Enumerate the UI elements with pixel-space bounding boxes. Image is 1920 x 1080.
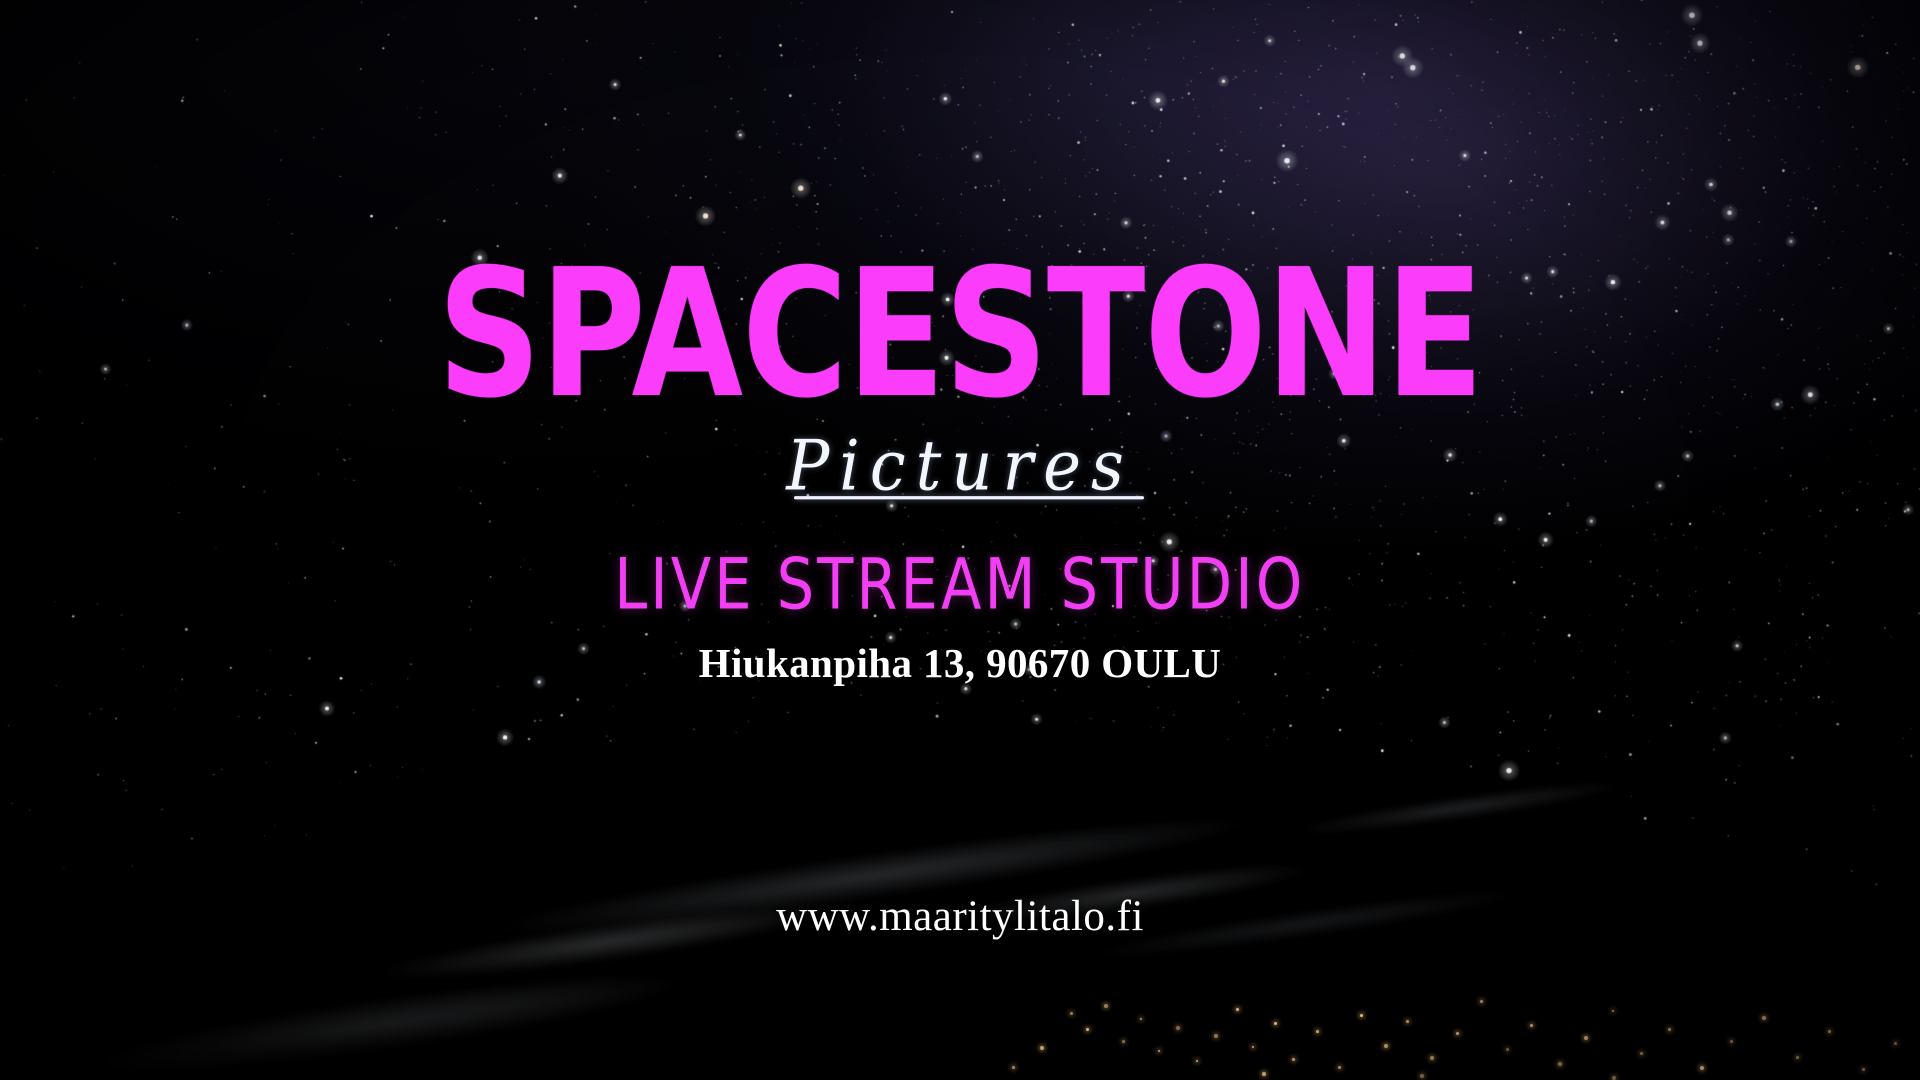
- address-line: Hiukanpiha 13, 90670 OULU: [699, 643, 1222, 684]
- title-content: SPACESTONE Pictures LIVE STREAM STUDIO H…: [0, 0, 1920, 1080]
- brand-title: SPACESTONE: [437, 252, 1482, 420]
- title-card-stage: SPACESTONE Pictures LIVE STREAM STUDIO H…: [0, 0, 1920, 1080]
- brand-script-text: Pictures: [786, 427, 1134, 507]
- tagline: LIVE STREAM STUDIO: [614, 549, 1305, 620]
- brand-script-underline: [794, 496, 1144, 499]
- brand-script: Pictures: [786, 433, 1134, 502]
